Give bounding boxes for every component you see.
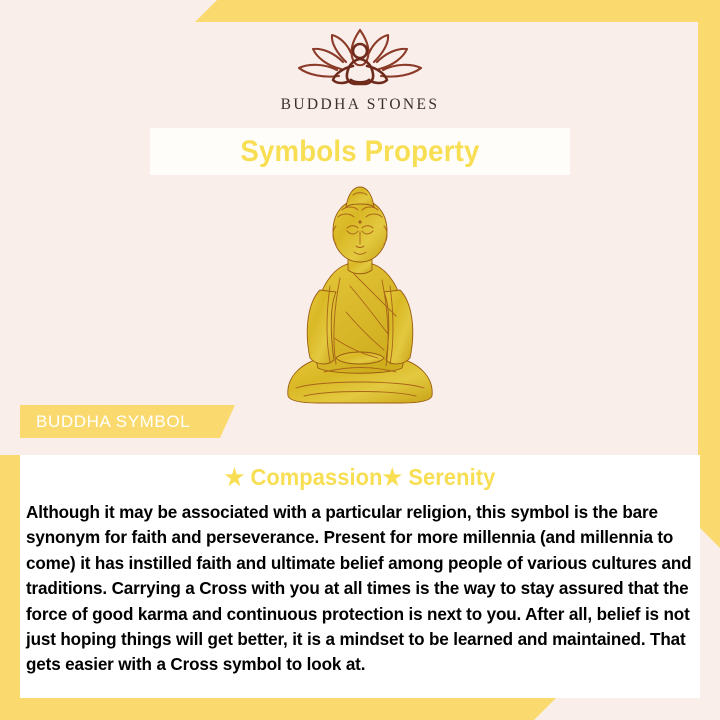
- title-banner: Symbols Property: [150, 128, 570, 175]
- content-subtitle: ★ Compassion★ Serenity: [37, 455, 683, 491]
- seated-buddha-statue-icon: [270, 182, 450, 410]
- frame-bar-top: [195, 0, 720, 22]
- content-paragraph: Although it may be associated with a par…: [20, 491, 700, 678]
- symbol-category-tag: BUDDHA SYMBOL: [20, 405, 235, 438]
- brand-name: BUDDHA STONES: [281, 96, 440, 114]
- brand-logo: BUDDHA STONES: [0, 24, 720, 114]
- page-title: Symbols Property: [240, 135, 479, 169]
- lotus-meditation-icon: [275, 24, 445, 90]
- frame-bar-bottom: [0, 698, 556, 720]
- poster-root: BUDDHA STONES Symbols Property: [0, 0, 720, 720]
- urna-dot: [358, 220, 361, 223]
- description-card: ★ Compassion★ Serenity Although it may b…: [20, 455, 700, 698]
- symbol-category-label: BUDDHA SYMBOL: [20, 412, 190, 432]
- hero-image: [0, 182, 720, 410]
